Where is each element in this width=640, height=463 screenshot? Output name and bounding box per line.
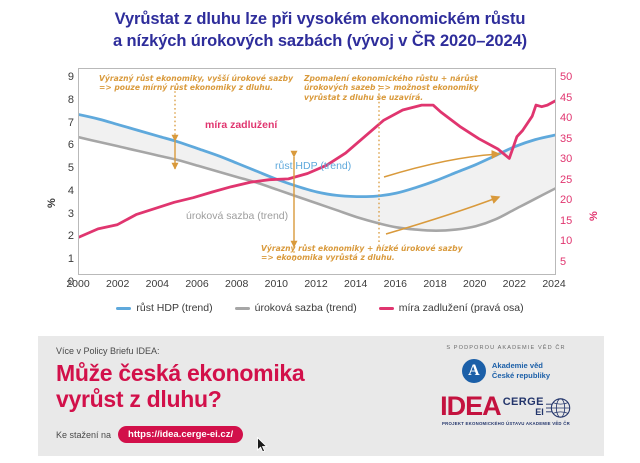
legend-swatch-icon bbox=[235, 307, 250, 310]
avcr-line-2: České republiky bbox=[492, 371, 550, 380]
legend-label: růst HDP (trend) bbox=[136, 302, 212, 314]
banner-headline-1: Může česká ekonomika bbox=[56, 360, 396, 386]
avcr-logo: Akademie věd České republiky bbox=[408, 359, 604, 383]
banner-headline-2: vyrůst z dluhu? bbox=[56, 386, 396, 412]
y-tick-left-8: 8 bbox=[52, 94, 74, 106]
x-tick-2024: 2024 bbox=[542, 278, 565, 290]
idea-logo-row: IDEA CERGE EI bbox=[408, 393, 604, 419]
logos-block: S PODPOROU AKADEMIE VĚD ČR Akademie věd … bbox=[408, 336, 604, 456]
banner-kicker: Více v Policy Briefu IDEA: bbox=[56, 346, 396, 356]
cerge-ei-block: CERGE EI bbox=[503, 396, 544, 419]
legend-label: míra zadlužení (pravá osa) bbox=[399, 302, 524, 314]
legend-label: úroková sazba (trend) bbox=[255, 302, 357, 314]
idea-url-link[interactable]: https://idea.cerge-ei.cz/ bbox=[118, 426, 243, 443]
gdp-rate-gap-band bbox=[79, 115, 555, 231]
y-tick-left-5: 5 bbox=[52, 162, 74, 174]
x-tick-2012: 2012 bbox=[304, 278, 327, 290]
idea-wordmark: IDEA bbox=[440, 393, 501, 419]
y-axis-ticks-right: 5101520253035404550 bbox=[560, 68, 590, 275]
legend-item-0: růst HDP (trend) bbox=[116, 302, 212, 314]
idea-logo: IDEA CERGE EI bbox=[408, 393, 604, 426]
y-tick-right-45: 45 bbox=[560, 92, 586, 104]
globe-icon bbox=[546, 397, 572, 419]
x-tick-2016: 2016 bbox=[384, 278, 407, 290]
annotation-bottom: Výrazný růst ekonomiky + nízké úrokové s… bbox=[261, 244, 463, 263]
download-row: Ke stažení na https://idea.cerge-ei.cz/ bbox=[56, 426, 243, 443]
y-tick-left-1: 1 bbox=[52, 253, 74, 265]
y-tick-right-40: 40 bbox=[560, 112, 586, 124]
avcr-mark-icon bbox=[462, 359, 486, 383]
curve-label-rate: úroková sazba (trend) bbox=[186, 210, 288, 222]
ei-text: EI bbox=[503, 408, 544, 418]
plot-area: míra zadlužení růst HDP (trend) úroková … bbox=[78, 68, 556, 275]
x-tick-2014: 2014 bbox=[344, 278, 367, 290]
curve-label-debt: míra zadlužení bbox=[205, 119, 277, 131]
page-title: Vyrůstat z dluhu lze při vysokém ekonomi… bbox=[0, 8, 640, 52]
y-tick-right-20: 20 bbox=[560, 194, 586, 206]
y-tick-left-6: 6 bbox=[52, 139, 74, 151]
download-label: Ke stažení na bbox=[56, 430, 111, 440]
footer-banner: Více v Policy Briefu IDEA: Může česká ek… bbox=[38, 336, 604, 456]
annotation-top-left: Výrazný růst ekonomiky, vyšší úrokové sa… bbox=[99, 74, 293, 93]
legend-item-2: míra zadlužení (pravá osa) bbox=[379, 302, 524, 314]
y-tick-right-35: 35 bbox=[560, 133, 586, 145]
avcr-line-1: Akademie věd bbox=[492, 361, 543, 370]
y-tick-left-2: 2 bbox=[52, 230, 74, 242]
x-axis-ticks: 2000200220042006200820102012201420162018… bbox=[78, 278, 556, 298]
chart: % % 0123456789 5101520253035404550 míra … bbox=[0, 58, 640, 333]
y-tick-left-4: 4 bbox=[52, 185, 74, 197]
mouse-cursor bbox=[257, 437, 268, 453]
x-tick-2010: 2010 bbox=[265, 278, 288, 290]
y-tick-right-25: 25 bbox=[560, 174, 586, 186]
title-line-1: Vyrůstat z dluhu lze při vysokém ekonomi… bbox=[0, 8, 640, 30]
support-text: S PODPOROU AKADEMIE VĚD ČR bbox=[408, 345, 604, 351]
y-tick-right-30: 30 bbox=[560, 153, 586, 165]
idea-tagline: PROJEKT EKONOMICKÉHO ÚSTAVU AKADEMIE VĚD… bbox=[408, 421, 604, 426]
y-axis-ticks-left: 0123456789 bbox=[48, 68, 74, 275]
x-tick-2020: 2020 bbox=[463, 278, 486, 290]
curve-label-gdp: růst HDP (trend) bbox=[275, 160, 351, 172]
y-tick-right-5: 5 bbox=[560, 256, 586, 268]
y-tick-left-7: 7 bbox=[52, 117, 74, 129]
x-tick-2022: 2022 bbox=[503, 278, 526, 290]
x-tick-2000: 2000 bbox=[66, 278, 89, 290]
x-tick-2004: 2004 bbox=[146, 278, 169, 290]
y-tick-left-9: 9 bbox=[52, 71, 74, 83]
legend-item-1: úroková sazba (trend) bbox=[235, 302, 357, 314]
x-tick-2002: 2002 bbox=[106, 278, 129, 290]
y-tick-right-10: 10 bbox=[560, 235, 586, 247]
x-tick-2006: 2006 bbox=[185, 278, 208, 290]
title-line-2: a nízkých úrokových sazbách (vývoj v ČR … bbox=[0, 30, 640, 52]
banner-text-block: Více v Policy Briefu IDEA: Může česká ek… bbox=[56, 346, 396, 412]
avcr-logo-text: Akademie věd České republiky bbox=[492, 361, 550, 380]
y-tick-right-50: 50 bbox=[560, 71, 586, 83]
y-tick-left-3: 3 bbox=[52, 208, 74, 220]
legend-swatch-icon bbox=[116, 307, 131, 310]
chart-legend: růst HDP (trend)úroková sazba (trend)mír… bbox=[0, 302, 640, 314]
slide-root: Vyrůstat z dluhu lze při vysokém ekonomi… bbox=[0, 0, 640, 463]
x-tick-2008: 2008 bbox=[225, 278, 248, 290]
y-tick-right-15: 15 bbox=[560, 215, 586, 227]
x-tick-2018: 2018 bbox=[423, 278, 446, 290]
annotation-top-right: Zpomalení ekonomického růstu + nárůst úr… bbox=[304, 74, 479, 102]
legend-swatch-icon bbox=[379, 307, 394, 310]
